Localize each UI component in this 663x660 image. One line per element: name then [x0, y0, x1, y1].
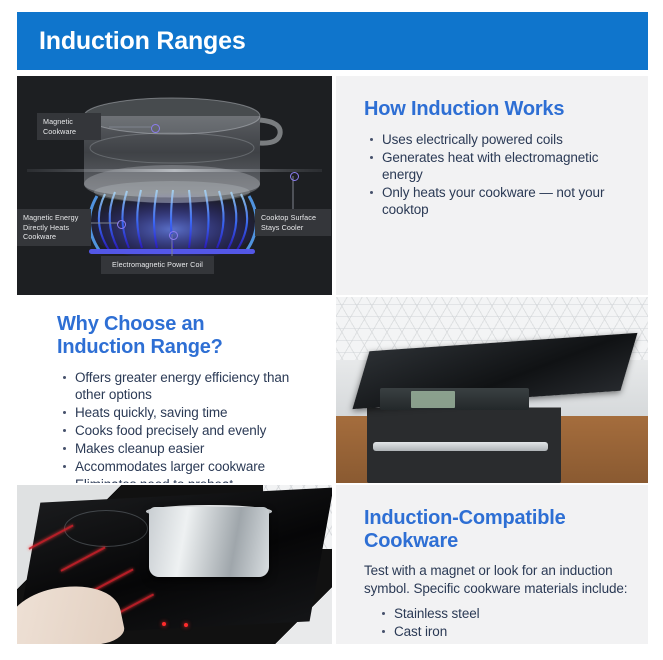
list-item: Eliminates need to preheat [75, 476, 312, 483]
why-heading: Why Choose an Induction Range? [57, 313, 312, 359]
cookware-heading: Induction-Compatible Cookware [364, 507, 628, 553]
why-heading-line2: Induction Range? [57, 336, 223, 358]
list-item: Offers greater energy efficiency than ot… [75, 369, 312, 403]
why-choose-panel: Why Choose an Induction Range? Offers gr… [17, 297, 332, 483]
cookware-heading-line1: Induction-Compatible [364, 507, 566, 529]
cooktop-controls-photo [17, 485, 332, 644]
why-text-block: Why Choose an Induction Range? Offers gr… [17, 297, 332, 483]
cookware-text-block: Induction-Compatible Cookware Test with … [336, 485, 648, 644]
callout-dot-coil [169, 231, 178, 240]
list-item: Enamel steel [394, 641, 628, 644]
list-item: Only heats your cookware — not your cook… [382, 184, 628, 218]
list-item: Uses electrically powered coils [382, 131, 628, 148]
list-item: Stainless steel [394, 605, 628, 622]
how-bullet-list: Uses electrically powered coils Generate… [364, 131, 628, 218]
why-heading-line1: Why Choose an [57, 313, 204, 335]
how-text-block: How Induction Works Uses electrically po… [336, 76, 648, 218]
list-item: Generates heat with electromagnetic ener… [382, 149, 628, 183]
page-title: Induction Ranges [17, 27, 246, 56]
oven-handle [373, 442, 548, 451]
page-header: Induction Ranges [17, 12, 648, 70]
compatible-cookware-panel: Induction-Compatible Cookware Test with … [336, 485, 648, 644]
indicator-dot [162, 622, 166, 626]
how-heading: How Induction Works [364, 98, 628, 121]
cookware-heading-line2: Cookware [364, 530, 458, 552]
why-bullet-list: Offers greater energy efficiency than ot… [57, 369, 312, 483]
stainless-pot [149, 507, 269, 577]
callout-dot-cookware [151, 124, 160, 133]
how-induction-works-panel: How Induction Works Uses electrically po… [336, 76, 648, 295]
label-power-coil: Electromagnetic Power Coil [101, 256, 214, 274]
control-display [411, 391, 455, 408]
cookware-paragraph: Test with a magnet or look for an induct… [364, 562, 628, 597]
label-magnetic-energy: Magnetic Energy Directly Heats Cookware [17, 209, 91, 246]
list-item: Cast iron [394, 623, 628, 640]
induction-diagram-panel: Magnetic Cookware Magnetic Energy Direct… [17, 76, 332, 295]
control-panel [380, 388, 530, 410]
callout-dot-energy [117, 220, 126, 229]
label-cooktop-surface: Cooktop Surface Stays Cooler [255, 209, 331, 236]
diagram-stage: Magnetic Cookware Magnetic Energy Direct… [17, 76, 332, 295]
cookware-bullet-list: Stainless steel Cast iron Enamel steel [364, 605, 628, 644]
callout-dot-surface [290, 172, 299, 181]
list-item: Heats quickly, saving time [75, 404, 312, 421]
list-item: Cooks food precisely and evenly [75, 422, 312, 439]
infographic-page: Induction Ranges [0, 0, 663, 660]
list-item: Makes cleanup easier [75, 440, 312, 457]
list-item: Accommodates larger cookware [75, 458, 312, 475]
label-magnetic-cookware: Magnetic Cookware [37, 113, 101, 140]
induction-range-photo [336, 297, 648, 483]
